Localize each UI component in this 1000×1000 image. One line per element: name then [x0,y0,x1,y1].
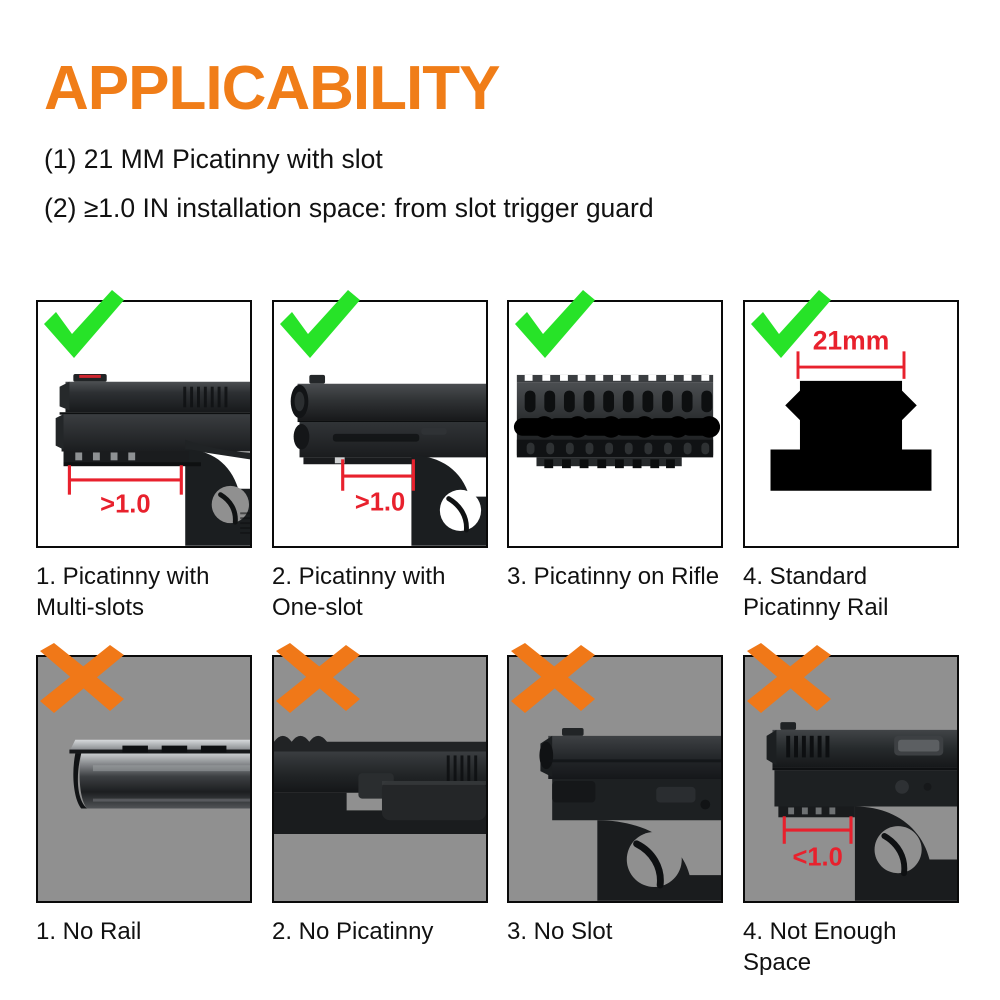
panel-caption: 4. Not Enough Space [743,917,958,978]
panel-artwork: 21mm [745,302,957,546]
dimension-line [784,816,851,843]
requirement-item-2: (2) ≥1.0 IN installation space: from slo… [44,195,964,222]
grid-cell: 2. No Picatinny [272,655,490,948]
pistol-no-picatinny-illustration [274,657,486,901]
panel-caption: 1. No Rail [36,917,251,948]
panel-artwork: >1.0 [274,302,486,546]
pistol-short-rail-illustration: <1.0 [745,657,957,901]
dimension-label: 21mm [813,325,890,355]
grid-cell: >1.0 1. Picatinny with Multi-slots [36,300,254,623]
panel-caption: 1. Picatinny with Multi-slots [36,562,251,623]
grid-cell: 3. No Slot [507,655,725,948]
panel-caption: 3. Picatinny on Rifle [507,562,722,593]
panel-artwork [38,657,250,901]
panel-artwork [274,657,486,901]
rail-cross-section-illustration: 21mm [745,302,957,546]
revolver-barrel-illustration [38,657,250,901]
example-panel-standard-picatinny-rail: 21mm [743,300,959,548]
example-panel-picatinny-on-rifle [507,300,723,548]
dimension-label: >1.0 [355,488,405,516]
dimension-label: >1.0 [100,490,150,518]
panel-caption: 2. No Picatinny [272,917,487,948]
example-panel-no-picatinny [272,655,488,903]
requirement-item-1: (1) 21 MM Picatinny with slot [44,146,964,173]
example-panel-no-slot [507,655,723,903]
grid-cell: 21mm 4. Standard Picatinny Rail [743,300,961,623]
dimension-label: <1.0 [792,843,842,871]
dimension-line [798,351,904,378]
grid-cell: >1.0 2. Picatinny with One-slot [272,300,490,623]
rail-profile-shape [771,381,932,491]
example-panel-not-enough-space: <1.0 [743,655,959,903]
panel-artwork: <1.0 [745,657,957,901]
grid-cell: 1. No Rail [36,655,254,948]
panel-artwork [509,657,721,901]
header: APPLICABILITY (1) 21 MM Picatinny with s… [44,58,964,243]
pistol-multi-slot-rail-illustration: >1.0 [38,302,250,546]
panel-caption: 4. Standard Picatinny Rail [743,562,958,623]
panel-caption: 2. Picatinny with One-slot [272,562,487,623]
pistol-one-slot-rail-illustration: >1.0 [274,302,486,546]
requirements-list: (1) 21 MM Picatinny with slot (2) ≥1.0 I… [44,146,964,221]
example-panel-picatinny-one-slot: >1.0 [272,300,488,548]
example-panel-no-rail [36,655,252,903]
grid-cell: <1.0 4. Not Enough Space [743,655,961,978]
page-title: APPLICABILITY [44,58,964,120]
panel-artwork: >1.0 [38,302,250,546]
example-panel-picatinny-multi-slots: >1.0 [36,300,252,548]
grid-cell: 3. Picatinny on Rifle [507,300,725,593]
panel-artwork [509,302,721,546]
rifle-handguard-rail-illustration [509,302,721,546]
panel-caption: 3. No Slot [507,917,722,948]
pistol-no-slot-illustration [509,657,721,901]
